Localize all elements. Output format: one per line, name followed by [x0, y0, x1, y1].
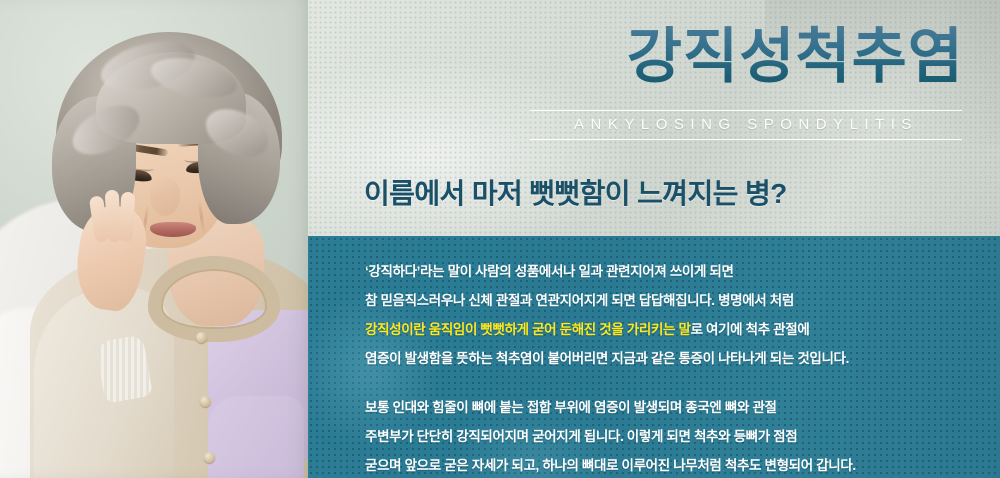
english-subtitle: ANKYLOSING SPONDYLITIS: [530, 116, 962, 133]
headline-question: 이름에서 마저 뻣뻣함이 느껴지는 병?: [364, 172, 787, 212]
cardigan-button: [204, 452, 215, 463]
cardigan-lavender-panel-lower: [208, 396, 304, 478]
cardigan-button: [196, 332, 207, 343]
nose: [150, 178, 180, 216]
text-line: 주변부가 단단히 강직되어지며 굳어지게 됩니다. 이렇게 되면 척추와 등뼈가…: [365, 422, 978, 451]
text-line: ‘강직하다’라는 말이 사람의 성품에서나 일과 관련지어져 쓰이게 되면: [365, 257, 978, 286]
text-line: 보통 인대와 힘줄이 뼈에 붙는 접합 부위에 염증이 발생되며 종국엔 뼈와 …: [365, 393, 978, 422]
text-run: 참 믿음직스러우나 신체 관절과 연관지어지게 되면 답답해집니다. 병명에서 …: [365, 293, 794, 308]
text-run: 보통 인대와 힘줄이 뼈에 붙는 접합 부위에 염증이 발생되며 종국엔 뼈와 …: [365, 400, 777, 415]
paragraph-1: ‘강직하다’라는 말이 사람의 성품에서나 일과 관련지어져 쓰이게 되면참 믿…: [365, 257, 978, 373]
text-line: 염증이 발생함을 뜻하는 척추염이 붙어버리면 지금과 같은 통증이 나타나게 …: [365, 344, 978, 373]
infographic-banner: 강직성척추염 ANKYLOSING SPONDYLITIS 이름에서 마저 뻣뻣…: [0, 0, 1000, 478]
description-text: ‘강직하다’라는 말이 사람의 성품에서나 일과 관련지어져 쓰이게 되면참 믿…: [365, 257, 978, 478]
text-line: 강직성이란 움직임이 뻣뻣하게 굳어 둔해진 것을 가리키는 말로 여기에 척추…: [365, 315, 978, 344]
text-run: 염증이 발생함을 뜻하는 척추염이 붙어버리면 지금과 같은 통증이 나타나게 …: [365, 351, 849, 366]
text-line: 굳으며 앞으로 굳은 자세가 되고, 하나의 뼈대로 이루어진 나무처럼 척추도…: [365, 451, 978, 478]
text-run: 굳으며 앞으로 굳은 자세가 되고, 하나의 뼈대로 이루어진 나무처럼 척추도…: [365, 458, 856, 473]
text-run: ‘강직하다’라는 말이 사람의 성품에서나 일과 관련지어져 쓰이게 되면: [365, 264, 734, 279]
paragraph-2: 보통 인대와 힘줄이 뼈에 붙는 접합 부위에 염증이 발생되며 종국엔 뼈와 …: [365, 393, 978, 478]
text-line: 참 믿음직스러우나 신체 관절과 연관지어지게 되면 답답해집니다. 병명에서 …: [365, 286, 978, 315]
finger: [119, 192, 136, 243]
text-run: 로 여기에 척추 관절에: [691, 322, 810, 337]
english-subtitle-rule: ANKYLOSING SPONDYLITIS: [530, 110, 962, 140]
header-area: 강직성척추염 ANKYLOSING SPONDYLITIS 이름에서 마저 뻣뻣…: [308, 0, 1000, 236]
description-panel: ‘강직하다’라는 말이 사람의 성품에서나 일과 관련지어져 쓰이게 되면참 믿…: [308, 236, 1000, 478]
text-run: 주변부가 단단히 강직되어지며 굳어지게 됩니다. 이렇게 되면 척추와 등뼈가…: [365, 429, 797, 444]
highlighted-text: 강직성이란 움직임이 뻣뻣하게 굳어 둔해진 것을 가리키는 말: [365, 322, 691, 337]
page-title: 강직성척추염: [627, 22, 964, 93]
cardigan-button: [200, 396, 211, 407]
patient-photo: [0, 0, 308, 478]
